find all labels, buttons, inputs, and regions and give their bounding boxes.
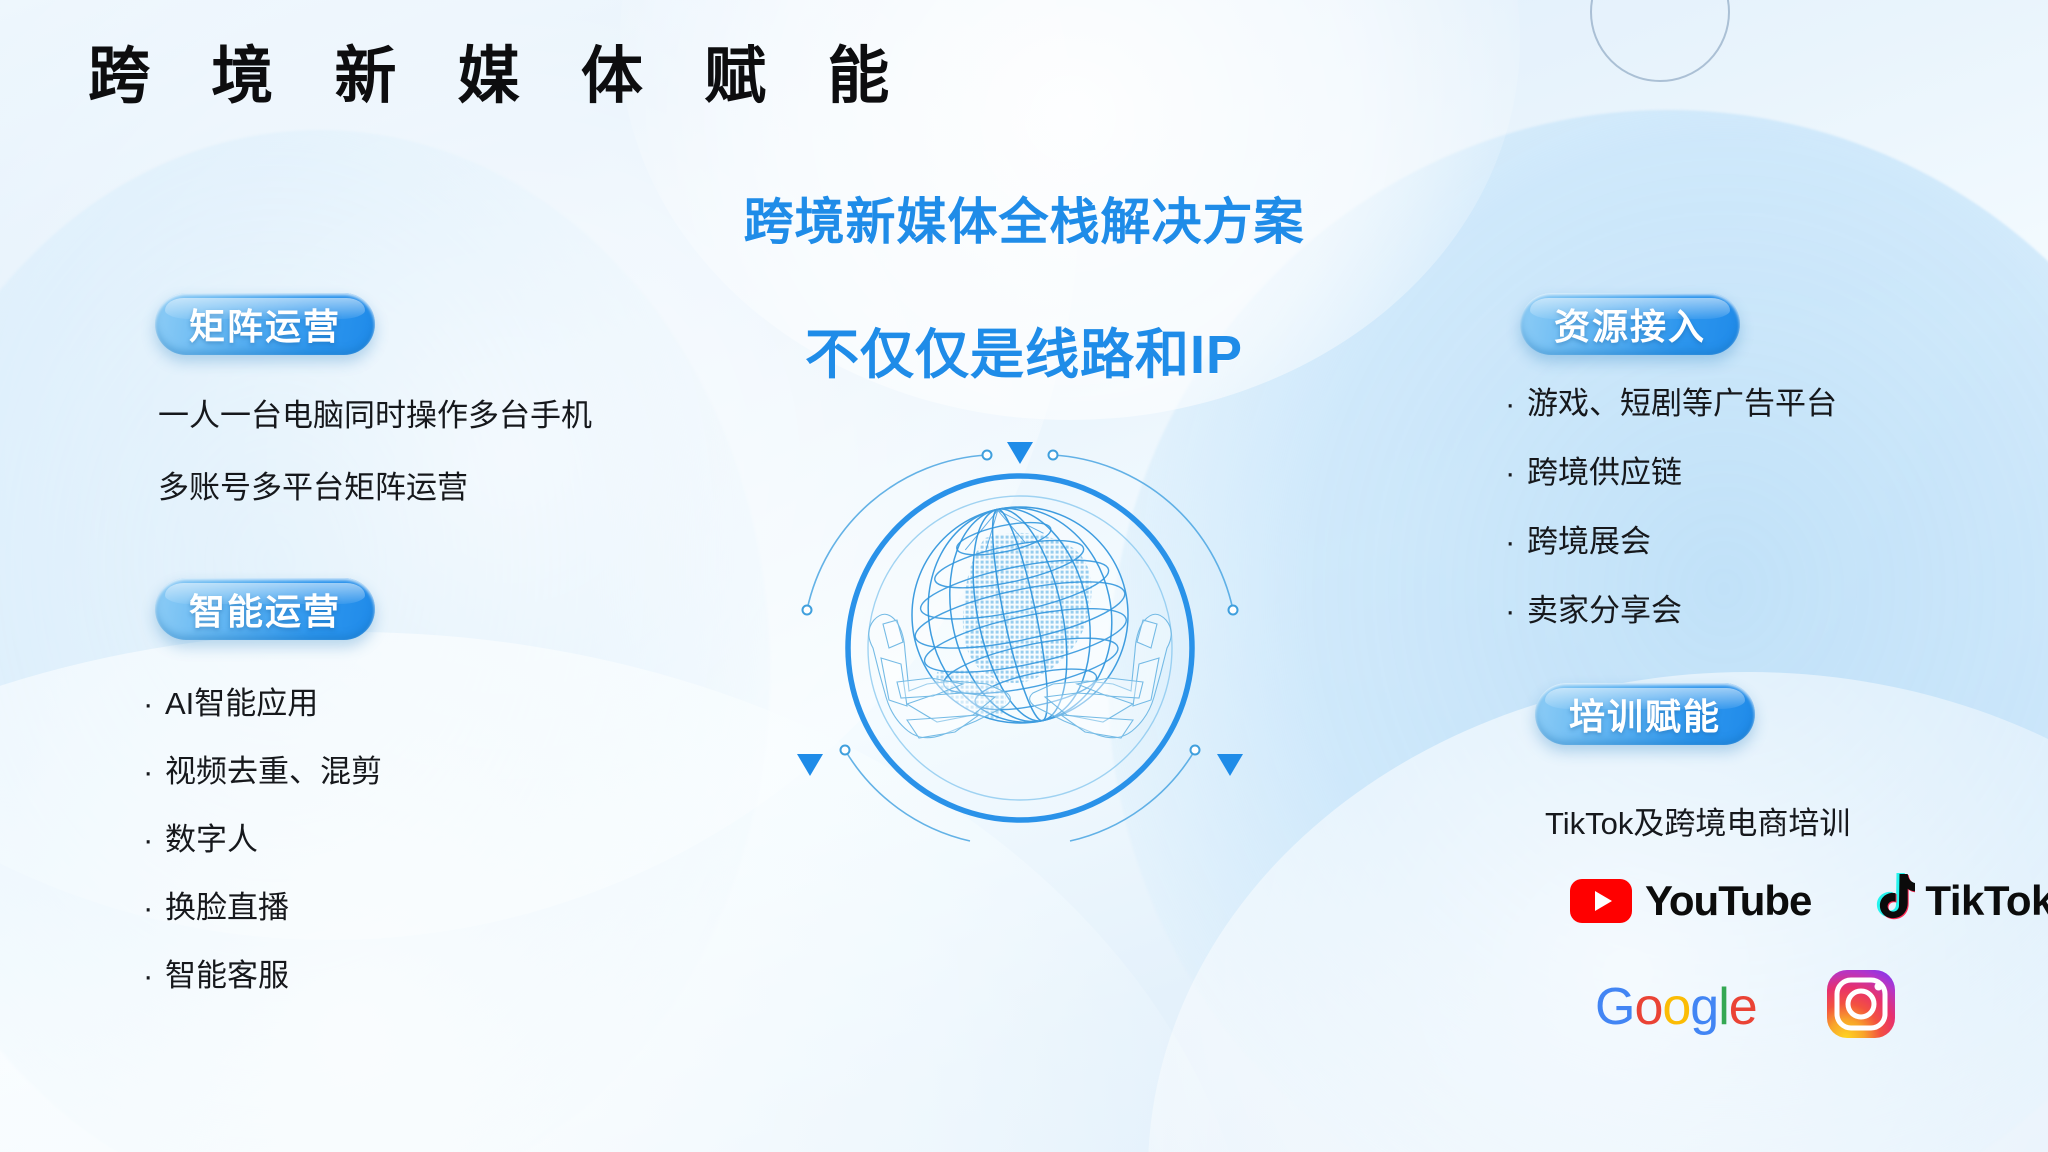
tiktok-wordmark: TikTok <box>1925 877 2048 925</box>
youtube-wordmark: YouTube <box>1645 877 1811 925</box>
resource-access-list: · 游戏、短剧等广告平台 · 跨境供应链 · 跨境展会 · 卖家分享会 <box>1505 378 1837 654</box>
matrix-line-1: 一人一台电脑同时操作多台手机 <box>158 400 592 433</box>
list-item: · AI智能应用 <box>143 678 382 723</box>
logo-row-primary: YouTube TikTok <box>1570 872 2048 929</box>
list-item: · 视频去重、混剪 <box>143 746 382 791</box>
tiktok-logo[interactable]: TikTok <box>1869 872 2048 929</box>
bullet-dot-icon: · <box>143 892 165 923</box>
matrix-line-2: 多账号多平台矩阵运营 <box>158 472 468 505</box>
google-logo[interactable]: Google <box>1595 981 1757 1033</box>
list-item-label: 游戏、短剧等广告平台 <box>1527 378 1837 423</box>
tiktok-note-icon <box>1869 872 1915 929</box>
bullet-dot-icon: · <box>1505 595 1527 626</box>
bullet-dot-icon: · <box>1505 457 1527 488</box>
bullet-dot-icon: · <box>1505 526 1527 557</box>
bullet-dot-icon: · <box>1505 388 1527 419</box>
logo-row-secondary: Google <box>1595 968 1897 1045</box>
pill-matrix-operations-label: 矩阵运营 <box>189 298 341 350</box>
list-item: · 智能客服 <box>143 950 382 995</box>
pill-resource-access-label: 资源接入 <box>1554 298 1706 350</box>
list-item-label: AI智能应用 <box>165 678 318 723</box>
list-item-label: 跨境供应链 <box>1527 447 1682 492</box>
center-heading-primary: 跨境新媒体全栈解决方案 <box>744 182 1305 254</box>
slide-canvas: 跨 境 新 媒 体 赋 能 跨境新媒体全栈解决方案 不仅仅是线路和IP 矩阵运营… <box>0 0 2048 1152</box>
list-item: · 游戏、短剧等广告平台 <box>1505 378 1837 423</box>
list-item-label: 跨境展会 <box>1527 516 1651 561</box>
pill-training-empowerment-label: 培训赋能 <box>1569 688 1721 740</box>
center-heading-secondary: 不仅仅是线路和IP <box>805 310 1243 389</box>
list-item: · 跨境供应链 <box>1505 447 1837 492</box>
page-title: 跨 境 新 媒 体 赋 能 <box>88 38 911 116</box>
bullet-dot-icon: · <box>143 824 165 855</box>
list-item: · 换脸直播 <box>143 882 382 927</box>
pill-smart-operations[interactable]: 智能运营 <box>155 578 375 640</box>
list-item-label: 视频去重、混剪 <box>165 746 382 791</box>
bullet-dot-icon: · <box>143 960 165 991</box>
pill-resource-access[interactable]: 资源接入 <box>1520 293 1740 355</box>
list-item-label: 智能客服 <box>165 950 289 995</box>
globe-in-hands-illustration <box>795 420 1245 870</box>
background-blob-left <box>0 130 770 1152</box>
training-description: TikTok及跨境电商培训 <box>1545 798 1850 843</box>
pill-training-empowerment[interactable]: 培训赋能 <box>1535 683 1755 745</box>
pill-matrix-operations[interactable]: 矩阵运营 <box>155 293 375 355</box>
instagram-logo[interactable] <box>1825 968 1897 1045</box>
smart-operations-list: · AI智能应用 · 视频去重、混剪 · 数字人 · 换脸直播 · 智能客服 <box>143 678 382 1018</box>
list-item: · 跨境展会 <box>1505 516 1837 561</box>
youtube-play-icon <box>1570 879 1632 923</box>
list-item-label: 卖家分享会 <box>1527 585 1682 630</box>
bullet-dot-icon: · <box>143 756 165 787</box>
list-item: · 数字人 <box>143 814 382 859</box>
pill-smart-operations-label: 智能运营 <box>189 583 341 635</box>
decorative-circle-outline <box>1590 0 1730 82</box>
bullet-dot-icon: · <box>143 688 165 719</box>
list-item-label: 数字人 <box>165 814 258 859</box>
youtube-logo[interactable]: YouTube <box>1570 877 1811 925</box>
list-item-label: 换脸直播 <box>165 882 289 927</box>
list-item: · 卖家分享会 <box>1505 585 1837 630</box>
